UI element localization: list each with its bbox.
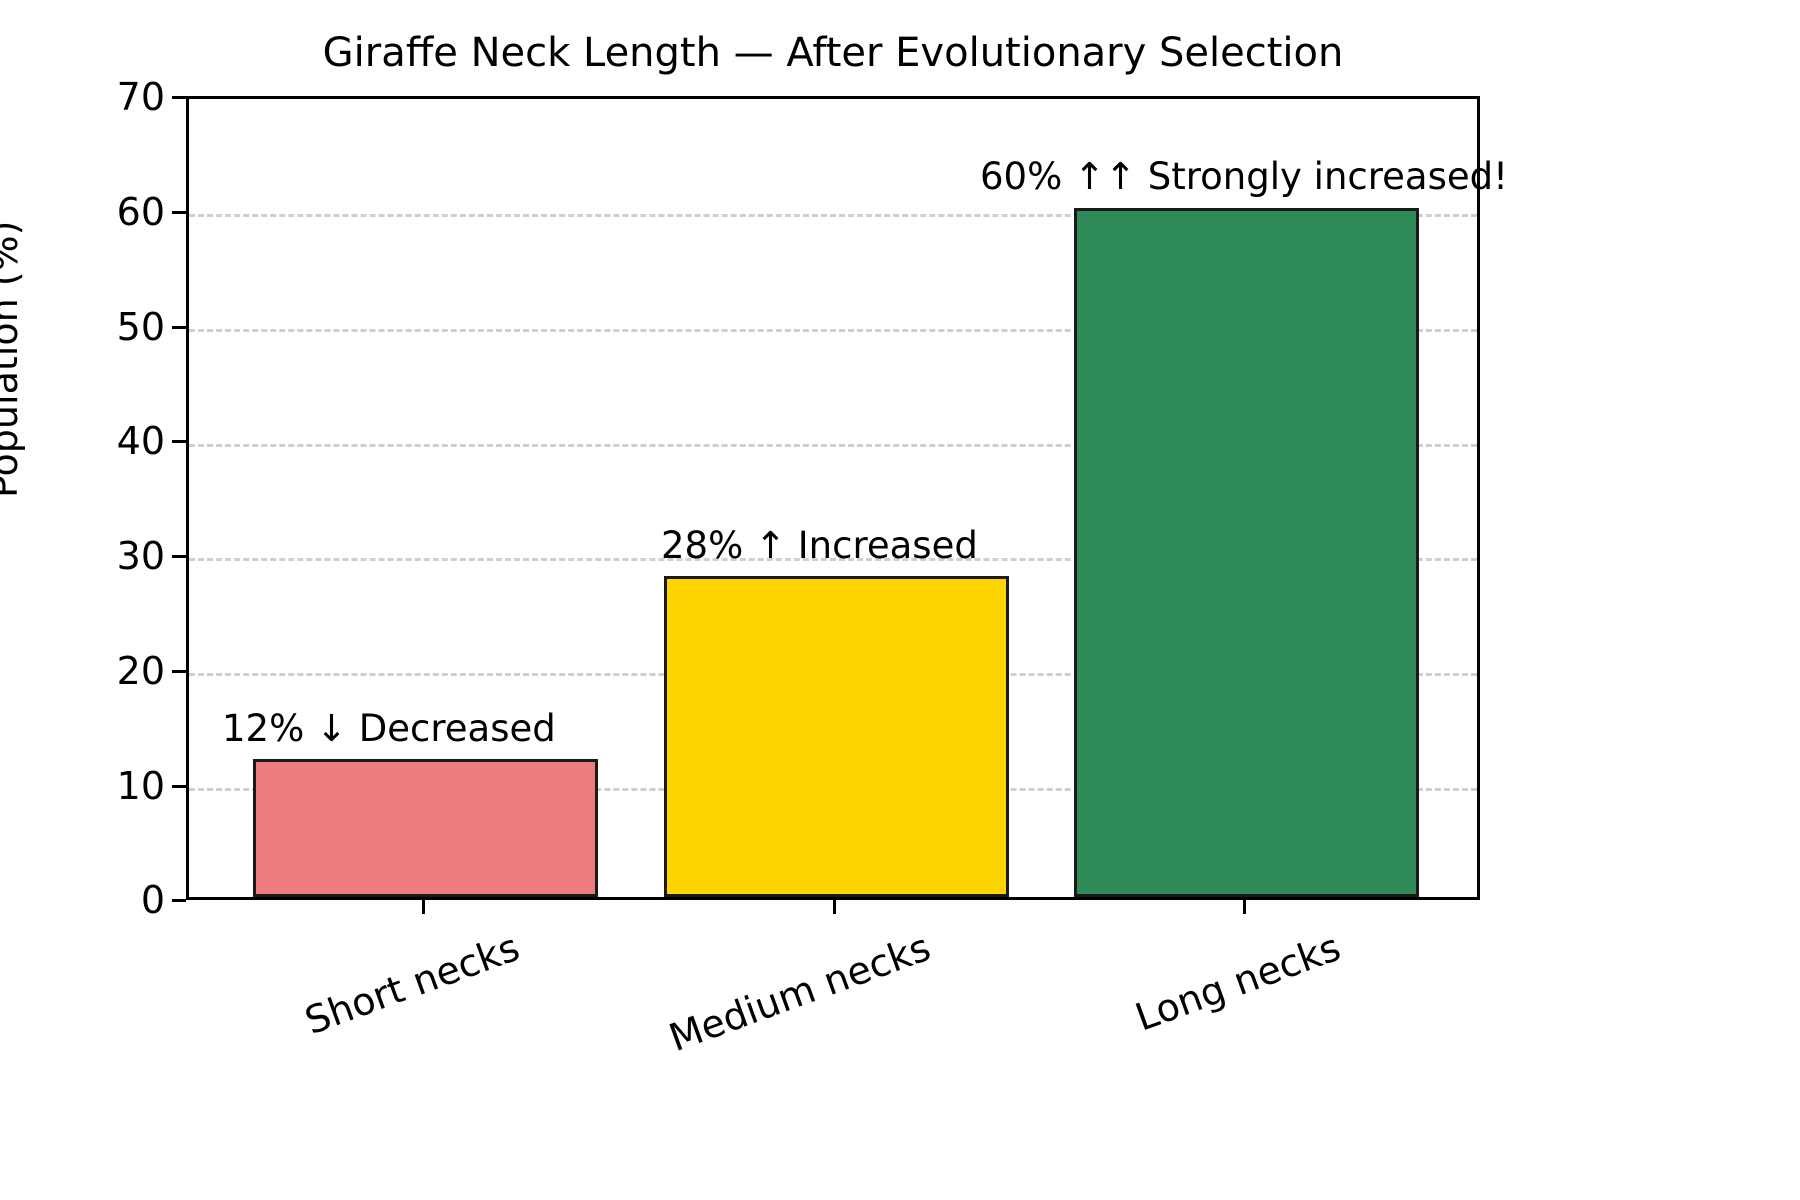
y-tick-mark-60 bbox=[172, 211, 186, 214]
x-tick-mark-long-necks bbox=[1243, 900, 1246, 914]
bar-value-label-short-necks: 12% ↓ Decreased bbox=[222, 710, 556, 747]
y-tick-mark-20 bbox=[172, 670, 186, 673]
y-tick-label-70: 70 bbox=[90, 78, 165, 116]
y-tick-label-20: 20 bbox=[90, 652, 165, 690]
chart-figure: Giraffe Neck Length — After Evolutionary… bbox=[0, 0, 1800, 1200]
y-tick-mark-10 bbox=[172, 785, 186, 788]
bar-long-necks[interactable] bbox=[1074, 208, 1419, 897]
plot-area bbox=[186, 96, 1480, 900]
bar-value-label-long-necks: 60% ↑↑ Strongly increased! bbox=[980, 158, 1508, 195]
y-tick-mark-30 bbox=[172, 555, 186, 558]
y-tick-mark-70 bbox=[172, 96, 186, 99]
x-tick-mark-short-necks bbox=[422, 900, 425, 914]
y-tick-label-50: 50 bbox=[90, 308, 165, 346]
x-tick-mark-medium-necks bbox=[833, 900, 836, 914]
bar-medium-necks[interactable] bbox=[664, 576, 1009, 897]
y-tick-label-40: 40 bbox=[90, 422, 165, 460]
bar-value-label-medium-necks: 28% ↑ Increased bbox=[661, 527, 978, 564]
chart-title: Giraffe Neck Length — After Evolutionary… bbox=[186, 30, 1480, 76]
y-axis-title: Population (%) bbox=[0, 221, 26, 499]
y-tick-label-30: 30 bbox=[90, 537, 165, 575]
y-tick-label-60: 60 bbox=[90, 193, 165, 231]
plot-inner bbox=[189, 99, 1477, 897]
y-tick-mark-0 bbox=[172, 899, 186, 902]
y-tick-label-0: 0 bbox=[90, 881, 165, 919]
bar-short-necks[interactable] bbox=[253, 759, 598, 897]
y-tick-label-10: 10 bbox=[90, 767, 165, 805]
y-tick-mark-50 bbox=[172, 326, 186, 329]
y-tick-mark-40 bbox=[172, 440, 186, 443]
